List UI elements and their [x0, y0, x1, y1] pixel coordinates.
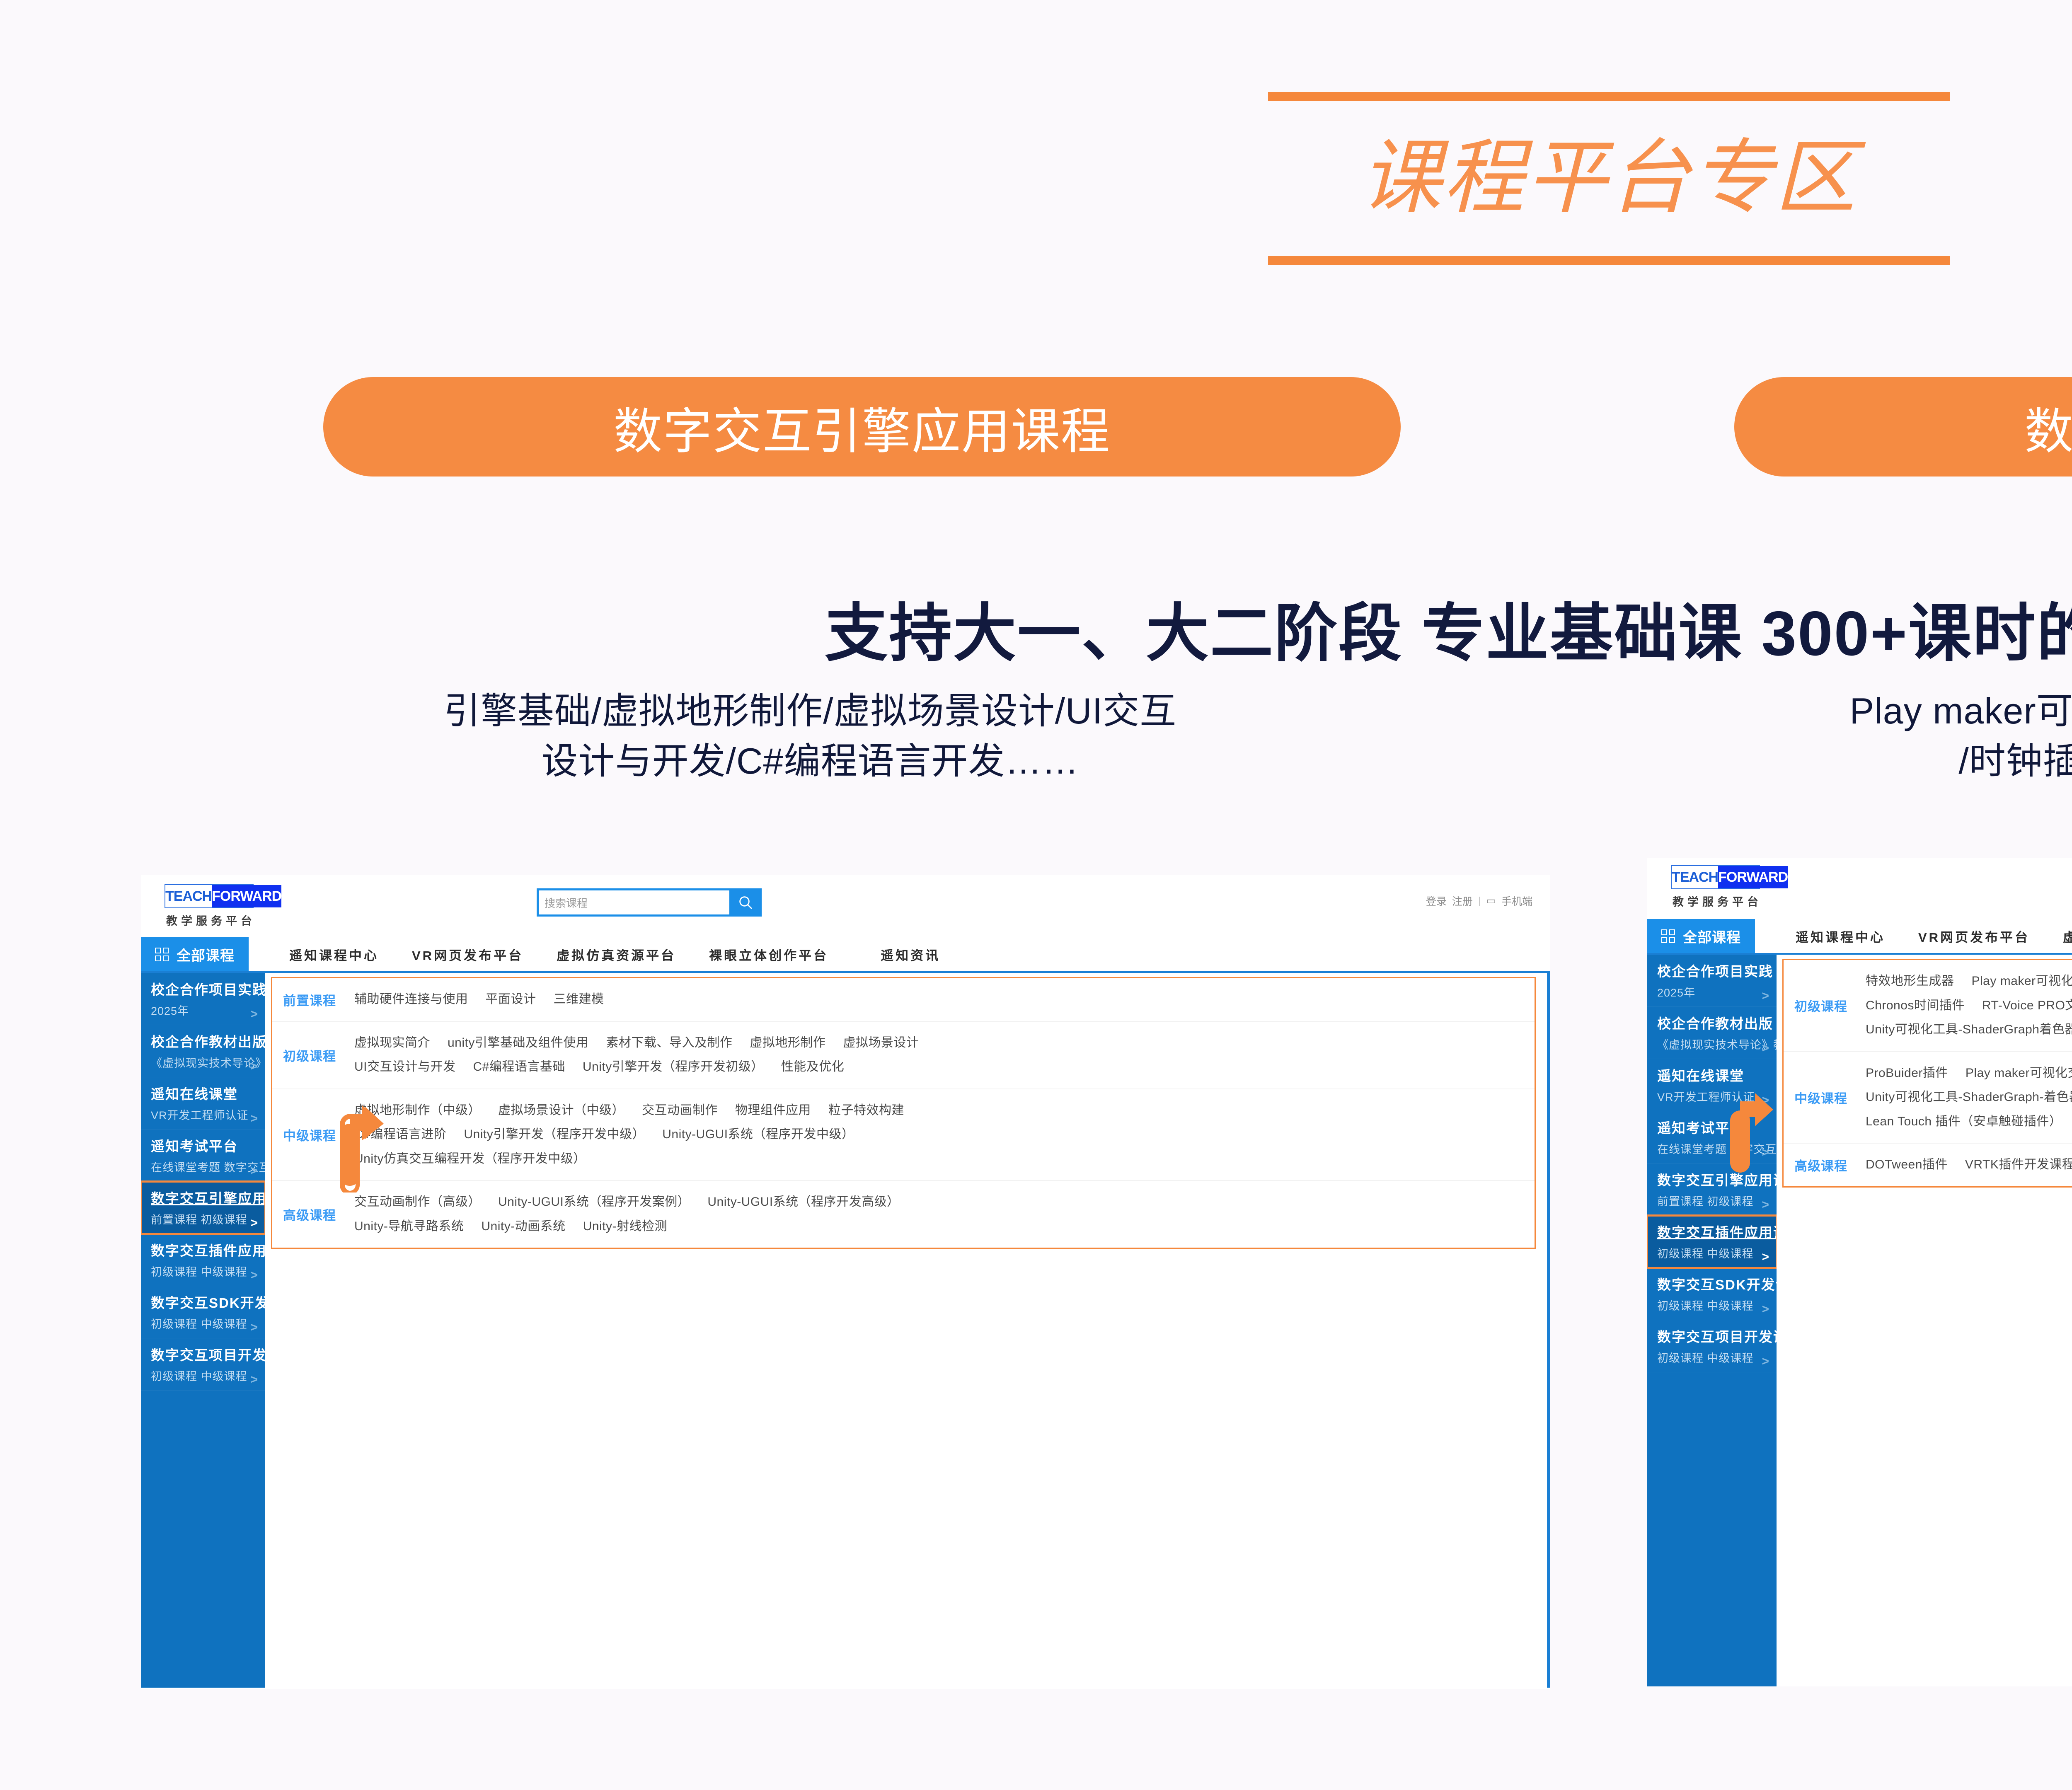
- orange-arrow-left: [339, 1105, 384, 1193]
- description-right-line1: Play maker可视化交互插件/特效地形生成器Gaia/动画插件: [1662, 686, 2072, 736]
- sidebar-item-7-title: 数字交互项目开发课程: [1657, 1326, 1755, 1346]
- arrow-right-icon: [339, 1105, 384, 1193]
- category-row: 中级课程 虚拟地形制作（中级）虚拟场景设计（中级）交互动画制作物理组件应用粒子特…: [272, 1089, 1535, 1181]
- search-button[interactable]: [729, 888, 762, 917]
- chevron-right-icon: >: [250, 1059, 258, 1074]
- sidebar-item-5[interactable]: 数字交互插件应用课程 初级课程 中级课程 >: [141, 1234, 265, 1286]
- logo-subtitle: 教学服务平台: [162, 912, 256, 928]
- sidebar-item-7[interactable]: 数字交互项目开发课程 初级课程 中级课程 >: [141, 1338, 265, 1391]
- sidebar-item-3[interactable]: 遥知考试平台 在线课堂考题 数字交互考题 >: [141, 1130, 265, 1182]
- logo-forward-text: FORWARD: [1718, 866, 1788, 888]
- pill-engine-course[interactable]: 数字交互引擎应用课程: [323, 377, 1401, 477]
- course-chip[interactable]: Unity-UGUI系统（程序开发中级）: [662, 1127, 854, 1141]
- sidebar-item-5-title: 数字交互插件应用课程: [1657, 1222, 1755, 1241]
- logo-subtitle: 教学服务平台: [1669, 893, 1762, 909]
- category-label: 高级课程: [1784, 1153, 1866, 1177]
- chevron-right-icon: >: [1762, 1355, 1769, 1369]
- description-left-line1: 引擎基础/虚拟地形制作/虚拟场景设计/UI交互: [199, 686, 1421, 736]
- sidebar-item-7-title: 数字交互项目开发课程: [151, 1344, 244, 1364]
- chevron-right-icon: >: [250, 1216, 258, 1230]
- logo-teach-text: TEACH: [165, 885, 212, 907]
- chevron-right-icon: >: [250, 1321, 258, 1335]
- course-chip[interactable]: Unity可视化工具-ShaderGraph着色器: [1866, 1023, 2072, 1036]
- course-chip[interactable]: 粒子特效构建: [828, 1103, 904, 1117]
- nav-item-2[interactable]: 虚拟仿真资源平台: [540, 945, 692, 964]
- course-chip[interactable]: Unity可视化工具-ShaderGraph-着色器图形（中级）: [1866, 1090, 2072, 1104]
- site-logo-left[interactable]: TEACH FORWARD 教学服务平台: [162, 884, 256, 928]
- sidebar-item-1-title: 校企合作教材出版: [1657, 1013, 1755, 1033]
- course-chip[interactable]: 平面设计: [486, 992, 536, 1006]
- category-items: 辅助硬件连接与使用平面设计三维建模: [354, 987, 1535, 1012]
- category-label: 前置课程: [272, 987, 354, 1012]
- description-left: 引擎基础/虚拟地形制作/虚拟场景设计/UI交互 设计与开发/C#编程语言开发……: [199, 686, 1421, 786]
- category-label: 中级课程: [1784, 1061, 1866, 1134]
- course-chip[interactable]: Unity-导航寻路系统: [354, 1219, 464, 1233]
- course-chip[interactable]: Unity-UGUI系统（程序开发高级）: [707, 1195, 899, 1209]
- category-line: Unity可视化工具-ShaderGraph着色器Recorder插件: [1866, 1018, 2072, 1042]
- category-row: 前置课程 辅助硬件连接与使用平面设计三维建模: [272, 978, 1535, 1022]
- category-row: 初级课程 虚拟现实简介unity引擎基础及组件使用素材下载、导入及制作虚拟地形制…: [272, 1022, 1535, 1089]
- grid-icon: [155, 948, 169, 961]
- course-chip[interactable]: 交互动画制作: [642, 1103, 718, 1117]
- logo-teach-text: TEACH: [1672, 866, 1718, 888]
- chevron-right-icon: >: [250, 1373, 258, 1387]
- sidebar-item-6[interactable]: 数字交互SDK开发课程 初级课程 中级课程 >: [1647, 1268, 1777, 1320]
- nav-all-courses-label: 全部课程: [1683, 926, 1741, 946]
- category-line: Lean Touch 插件（安卓触碰插件）其他实用类插件（中级）: [1866, 1110, 2072, 1134]
- chevron-right-icon: >: [1762, 1302, 1769, 1316]
- course-chip[interactable]: Unity引擎开发（程序开发初级）: [583, 1060, 764, 1074]
- category-row: 中级课程 ProBuider插件Play maker可视化交互（中级）Image…: [1784, 1052, 2072, 1144]
- panel-edge: [1547, 973, 1550, 1688]
- sidebar-item-0-sub: 2025年: [151, 1002, 244, 1018]
- nav-item-1[interactable]: VR网页发布平台: [395, 945, 540, 964]
- course-chip[interactable]: C#编程语言基础: [473, 1060, 565, 1074]
- sidebar-item-1-sub: 《虚拟现实技术导论》教材配: [1657, 1036, 1755, 1052]
- arrow-right-icon: [1729, 1092, 1774, 1179]
- category-items: 交互动画制作（高级）Unity-UGUI系统（程序开发案例）Unity-UGUI…: [354, 1190, 1535, 1238]
- sidebar-item-0[interactable]: 校企合作项目实践 2025年 >: [141, 973, 265, 1025]
- login-link[interactable]: 登录: [1426, 893, 1447, 908]
- category-line: UI交互设计与开发C#编程语言基础Unity引擎开发（程序开发初级）性能及优化: [354, 1055, 1526, 1079]
- main-body-right: 校企合作项目实践 2025年 > 校企合作教材出版 《虚拟现实技术导论》教材配 …: [1647, 953, 2072, 1686]
- sidebar-item-4-sub: 前置课程 初级课程: [1657, 1193, 1755, 1209]
- headline: 支持大一、大二阶段 专业基础课 300+课时的课程开设: [0, 582, 2072, 673]
- sidebar-item-2-title: 遥知在线课堂: [1657, 1065, 1755, 1085]
- sidebar-item-0[interactable]: 校企合作项目实践 2025年 >: [1647, 955, 1777, 1007]
- main-body-left: 校企合作项目实践 2025年 > 校企合作教材出版 《虚拟现实技术导论》教材配 …: [141, 971, 1550, 1688]
- course-panel-right: 初级课程 特效地形生成器Play maker可视化交互（初级）其他实用类插件iT…: [1782, 959, 2072, 1188]
- content-right: 初级课程 特效地形生成器Play maker可视化交互（初级）其他实用类插件iT…: [1777, 955, 2072, 1686]
- search-placeholder: 搜索课程: [545, 895, 588, 910]
- site-logo-right[interactable]: TEACH FORWARD 教学服务平台: [1669, 865, 1762, 909]
- sidebar-item-7-sub: 初级课程 中级课程: [151, 1367, 244, 1384]
- course-chip[interactable]: Chronos时间插件: [1866, 999, 1965, 1012]
- nav-all-courses[interactable]: 全部课程: [1647, 919, 1755, 953]
- chevron-right-icon: >: [250, 1268, 258, 1282]
- nav-bar-left: 全部课程 遥知课程中心 VR网页发布平台 虚拟仿真资源平台 裸眼立体创作平台 遥…: [141, 937, 1550, 971]
- chevron-right-icon: >: [250, 1007, 258, 1021]
- course-chip[interactable]: Play maker可视化交互（初级）: [1972, 974, 2072, 988]
- course-chip[interactable]: DOTween插件: [1866, 1158, 1948, 1171]
- nav-item-0[interactable]: 遥知课程中心: [1779, 927, 1902, 946]
- orange-arrow-right: [1729, 1092, 1774, 1179]
- nav-item-0[interactable]: 遥知课程中心: [273, 945, 395, 964]
- sidebar-left: 校企合作项目实践 2025年 > 校企合作教材出版 《虚拟现实技术导论》教材配 …: [141, 973, 265, 1688]
- hero-title-box: 课程平台专区: [1268, 92, 1950, 265]
- sidebar-item-0-sub: 2025年: [1657, 984, 1755, 1000]
- nav-item-2[interactable]: 虚拟仿真资源平台: [2046, 927, 2072, 946]
- category-items: 虚拟现实简介unity引擎基础及组件使用素材下载、导入及制作虚拟地形制作虚拟场景…: [354, 1031, 1535, 1079]
- nav-bar-right: 全部课程 遥知课程中心 VR网页发布平台 虚拟仿真资源平台 裸眼立体创作平台 遥…: [1647, 919, 2072, 953]
- sidebar-item-4[interactable]: 数字交互引擎应用课程 前置课程 初级课程 >: [141, 1182, 265, 1234]
- sidebar-item-2-title: 遥知在线课堂: [151, 1083, 244, 1103]
- sidebar-item-6-title: 数字交互SDK开发课程: [1657, 1274, 1755, 1294]
- course-chip[interactable]: 特效地形生成器: [1866, 974, 1954, 988]
- nav-all-courses-label: 全部课程: [177, 944, 235, 965]
- sidebar-item-5-sub: 初级课程 中级课程: [1657, 1245, 1755, 1261]
- course-chip[interactable]: 辅助硬件连接与使用: [354, 992, 468, 1006]
- search-input[interactable]: 搜索课程: [539, 890, 729, 914]
- logo-mark: TEACH FORWARD: [1671, 865, 1760, 889]
- sidebar-item-2-sub: VR开发工程师认证: [151, 1106, 244, 1122]
- description-right-line2: /时钟插件/数据可视化插件/增强现实插件……: [1662, 736, 2072, 786]
- category-line: Unity仿真交互编程开发（程序开发中级）: [354, 1147, 1526, 1171]
- course-chip[interactable]: unity引擎基础及组件使用: [448, 1036, 588, 1050]
- chevron-right-icon: >: [250, 1112, 258, 1126]
- chevron-right-icon: >: [1762, 1041, 1769, 1055]
- course-chip[interactable]: VRTK插件开发课程: [1965, 1158, 2072, 1171]
- nav-item-4[interactable]: 遥知资讯: [864, 945, 957, 964]
- pill-plugin-course-label: 数字交互插件应用课程: [2024, 392, 2072, 462]
- nav-item-3[interactable]: 裸眼立体创作平台: [692, 945, 845, 964]
- course-chip[interactable]: Unity引擎开发（程序开发中级）: [464, 1127, 645, 1141]
- course-chip[interactable]: 素材下载、导入及制作: [606, 1036, 732, 1050]
- sidebar-item-5[interactable]: 数字交互插件应用课程 初级课程 中级课程 >: [1647, 1216, 1777, 1268]
- content-left: 前置课程 辅助硬件连接与使用平面设计三维建模 初级课程 虚拟现实简介unity: [265, 973, 1550, 1688]
- course-chip[interactable]: 三维建模: [554, 992, 604, 1006]
- course-chip[interactable]: 性能及优化: [781, 1060, 845, 1074]
- course-chip[interactable]: Unity仿真交互编程开发（程序开发中级）: [354, 1152, 586, 1166]
- logo-forward-text: FORWARD: [212, 885, 281, 907]
- register-link[interactable]: 注册: [1452, 893, 1473, 908]
- sidebar-item-1[interactable]: 校企合作教材出版 《虚拟现实技术导论》教材配 >: [141, 1025, 265, 1077]
- category-line: Unity可视化工具-ShaderGraph-着色器图形（中级）SpacePla…: [1866, 1085, 2072, 1110]
- nav-items-right: 遥知课程中心 VR网页发布平台 虚拟仿真资源平台 裸眼立体创作平台 遥知资讯: [1755, 919, 2072, 953]
- category-line: C#编程语言进阶Unity引擎开发（程序开发中级）Unity-UGUI系统（程序…: [354, 1122, 1526, 1147]
- sidebar-item-3-title: 遥知考试平台: [151, 1135, 244, 1155]
- sidebar-item-7-sub: 初级课程 中级课程: [1657, 1349, 1755, 1365]
- site-header-left: [141, 875, 1550, 937]
- course-chip[interactable]: RT-Voice PRO文字转语音插件: [1982, 999, 2072, 1012]
- search-icon: [737, 894, 754, 911]
- course-chip[interactable]: Unity-动画系统: [481, 1219, 565, 1233]
- category-line: Unity-导航寻路系统Unity-动画系统Unity-射线检测: [354, 1214, 1526, 1239]
- category-items: ProBuider插件Play maker可视化交互（中级）Imagespace…: [1866, 1061, 2072, 1134]
- pill-engine-course-label: 数字交互引擎应用课程: [613, 392, 1111, 462]
- nav-items-left: 遥知课程中心 VR网页发布平台 虚拟仿真资源平台 裸眼立体创作平台 遥知资讯: [249, 937, 1550, 971]
- course-chip[interactable]: Lean Touch 插件（安卓触碰插件）: [1866, 1115, 2062, 1128]
- course-chip[interactable]: 虚拟场景设计（中级）: [498, 1103, 625, 1117]
- sidebar-item-6-sub: 初级课程 中级课程: [1657, 1297, 1755, 1313]
- course-chip[interactable]: Play maker可视化交互（中级）: [1965, 1066, 2072, 1080]
- course-chip[interactable]: Unity-UGUI系统（程序开发案例）: [498, 1195, 690, 1209]
- course-chip[interactable]: 交互动画制作（高级）: [354, 1195, 481, 1209]
- mobile-phone-icon: ▭: [1486, 895, 1496, 907]
- category-label: 初级课程: [272, 1031, 354, 1079]
- category-row: 初级课程 特效地形生成器Play maker可视化交互（初级）其他实用类插件iT…: [1784, 960, 2072, 1052]
- chevron-right-icon: >: [250, 1164, 258, 1178]
- course-chip[interactable]: 虚拟场景设计: [843, 1036, 919, 1050]
- pill-plugin-course[interactable]: 数字交互插件应用课程: [1734, 377, 2072, 477]
- sidebar-item-1-title: 校企合作教材出版: [151, 1031, 244, 1051]
- screenshot-left: TEACH FORWARD 教学服务平台 搜索课程 登录 注册 | ▭ 手机端: [141, 875, 1550, 1689]
- page-title: 课程平台专区: [1360, 138, 1857, 219]
- category-line: 虚拟地形制作（中级）虚拟场景设计（中级）交互动画制作物理组件应用粒子特效构建: [354, 1098, 1526, 1123]
- sidebar-item-5-sub: 初级课程 中级课程: [151, 1263, 244, 1279]
- sidebar-item-4-sub: 前置课程 初级课程: [151, 1211, 244, 1227]
- sidebar-item-6[interactable]: 数字交互SDK开发课程 初级课程 中级课程 >: [141, 1286, 265, 1338]
- category-line: DOTween插件VRTK插件开发课程Play maker可视化交互（高级）Mi…: [1866, 1153, 2072, 1177]
- category-line: 虚拟现实简介unity引擎基础及组件使用素材下载、导入及制作虚拟地形制作虚拟场景…: [354, 1031, 1526, 1055]
- category-row: 高级课程 交互动画制作（高级）Unity-UGUI系统（程序开发案例）Unity…: [272, 1181, 1535, 1248]
- chevron-right-icon: >: [1762, 1250, 1769, 1264]
- category-label: 初级课程: [1784, 969, 1866, 1042]
- category-line: 特效地形生成器Play maker可视化交互（初级）其他实用类插件iTween动…: [1866, 969, 2072, 994]
- sidebar-item-2[interactable]: 遥知在线课堂 VR开发工程师认证 >: [141, 1077, 265, 1130]
- sidebar-item-0-title: 校企合作项目实践: [151, 979, 244, 999]
- category-items: 虚拟地形制作（中级）虚拟场景设计（中级）交互动画制作物理组件应用粒子特效构建 C…: [354, 1098, 1535, 1171]
- screenshot-right: TEACH FORWARD 教学服务平台 搜索课程 登录 注册 | ▭ 手机端: [1647, 858, 2072, 1686]
- sidebar-item-3-sub: 在线课堂考题 数字交互考题: [151, 1159, 244, 1175]
- description-right: Play maker可视化交互插件/特效地形生成器Gaia/动画插件 /时钟插件…: [1662, 686, 2072, 786]
- sidebar-item-1[interactable]: 校企合作教材出版 《虚拟现实技术导论》教材配 >: [1647, 1007, 1777, 1059]
- chevron-right-icon: >: [1762, 989, 1769, 1003]
- description-left-line2: 设计与开发/C#编程语言开发……: [199, 736, 1421, 786]
- sidebar-item-1-sub: 《虚拟现实技术导论》教材配: [151, 1054, 244, 1070]
- account-links-left: 登录 注册 | ▭ 手机端: [1426, 893, 1532, 908]
- course-chip[interactable]: Unity-射线检测: [583, 1219, 667, 1233]
- course-panel-left: 前置课程 辅助硬件连接与使用平面设计三维建模 初级课程 虚拟现实简介unity: [271, 977, 1536, 1249]
- category-label: 高级课程: [272, 1190, 354, 1238]
- category-line: Chronos时间插件RT-Voice PRO文字转语音插件XCharts数据可…: [1866, 994, 2072, 1018]
- category-line: 交互动画制作（高级）Unity-UGUI系统（程序开发案例）Unity-UGUI…: [354, 1190, 1526, 1214]
- course-chip[interactable]: 虚拟现实简介: [354, 1036, 430, 1050]
- divider: |: [1478, 895, 1481, 907]
- grid-icon: [1661, 929, 1675, 943]
- sidebar-item-6-title: 数字交互SDK开发课程: [151, 1292, 244, 1312]
- category-line: 辅助硬件连接与使用平面设计三维建模: [354, 987, 1526, 1012]
- sidebar-right: 校企合作项目实践 2025年 > 校企合作教材出版 《虚拟现实技术导论》教材配 …: [1647, 955, 1777, 1686]
- sidebar-item-4-title: 数字交互引擎应用课程: [151, 1188, 244, 1207]
- category-line: ProBuider插件Play maker可视化交互（中级）Imagespace…: [1866, 1061, 2072, 1086]
- sidebar-item-5-title: 数字交互插件应用课程: [151, 1240, 244, 1260]
- chevron-right-icon: >: [1762, 1198, 1769, 1212]
- category-items: 特效地形生成器Play maker可视化交互（初级）其他实用类插件iTween动…: [1866, 969, 2072, 1042]
- sidebar-item-0-title: 校企合作项目实践: [1657, 960, 1755, 980]
- course-chip[interactable]: ProBuider插件: [1866, 1066, 1948, 1080]
- category-row: 高级课程 DOTween插件VRTK插件开发课程Play maker可视化交互（…: [1784, 1144, 2072, 1186]
- logo-mark: TEACH FORWARD: [165, 884, 254, 908]
- category-items: DOTween插件VRTK插件开发课程Play maker可视化交互（高级）Mi…: [1866, 1153, 2072, 1177]
- course-chip[interactable]: UI交互设计与开发: [354, 1060, 456, 1074]
- nav-item-1[interactable]: VR网页发布平台: [1902, 927, 2046, 946]
- nav-all-courses[interactable]: 全部课程: [141, 937, 249, 971]
- poster-root: 课程平台专区 数字交互引擎应用课程 数字交互插件应用课程 支持大一、大二阶段 专…: [0, 0, 2072, 1790]
- course-chip[interactable]: 物理组件应用: [735, 1103, 811, 1117]
- search-bar-left[interactable]: 搜索课程: [537, 888, 762, 917]
- sidebar-item-7[interactable]: 数字交互项目开发课程 初级课程 中级课程 >: [1647, 1320, 1777, 1372]
- mobile-link[interactable]: 手机端: [1501, 893, 1532, 908]
- course-chip[interactable]: 虚拟地形制作: [750, 1036, 825, 1050]
- sidebar-item-6-sub: 初级课程 中级课程: [151, 1315, 244, 1331]
